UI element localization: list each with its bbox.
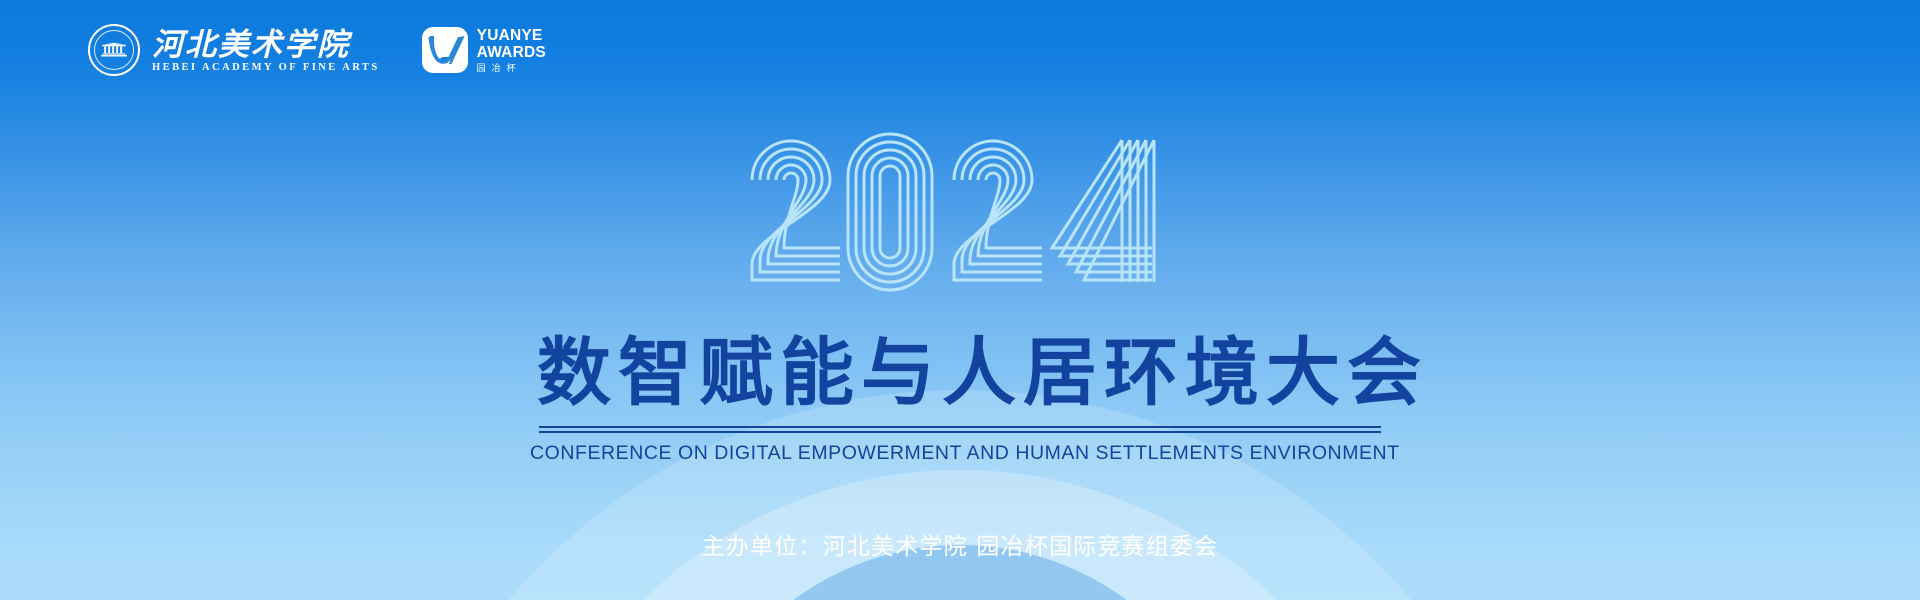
year-2024-graphic bbox=[750, 132, 1170, 292]
conference-title-cn: 数智赋能与人居环境大会 bbox=[530, 332, 1390, 414]
logo-yuanye-awards[interactable]: YUANYE AWARDS 园冶杯 bbox=[422, 27, 546, 73]
yuanye-y-mark-icon bbox=[422, 27, 468, 73]
academy-gate-glyph bbox=[101, 43, 127, 58]
logo-hebei-academy[interactable]: 河北美术学院 HEBEI ACADEMY OF FINE ARTS bbox=[88, 24, 380, 76]
year-2024-svg bbox=[750, 132, 1170, 292]
title-rule-top bbox=[539, 426, 1381, 428]
hebei-name-cn: 河北美术学院 bbox=[152, 28, 380, 61]
organiser-line: 主办单位：河北美术学院 园冶杯国际竞赛组委会 bbox=[702, 527, 1219, 561]
yuanye-line1: YUANYE bbox=[477, 28, 546, 44]
hebei-name-en: HEBEI ACADEMY OF FINE ARTS bbox=[152, 62, 380, 73]
yuanye-name-cn: 园冶杯 bbox=[477, 64, 546, 73]
title-rule-bottom bbox=[539, 431, 1381, 433]
title-block: 数智赋能与人居环境大会 CONFERENCE ON DIGITAL EMPOWE… bbox=[530, 332, 1390, 465]
conference-title-en: CONFERENCE ON DIGITAL EMPOWERMENT AND HU… bbox=[530, 442, 1390, 465]
yuanye-y-glyph bbox=[422, 27, 468, 73]
logo-bar: 河北美术学院 HEBEI ACADEMY OF FINE ARTS YUANYE… bbox=[88, 24, 546, 76]
conference-banner: 河北美术学院 HEBEI ACADEMY OF FINE ARTS YUANYE… bbox=[0, 0, 1920, 600]
yuanye-line2: AWARDS bbox=[477, 45, 546, 61]
academy-seal-icon bbox=[88, 24, 140, 76]
